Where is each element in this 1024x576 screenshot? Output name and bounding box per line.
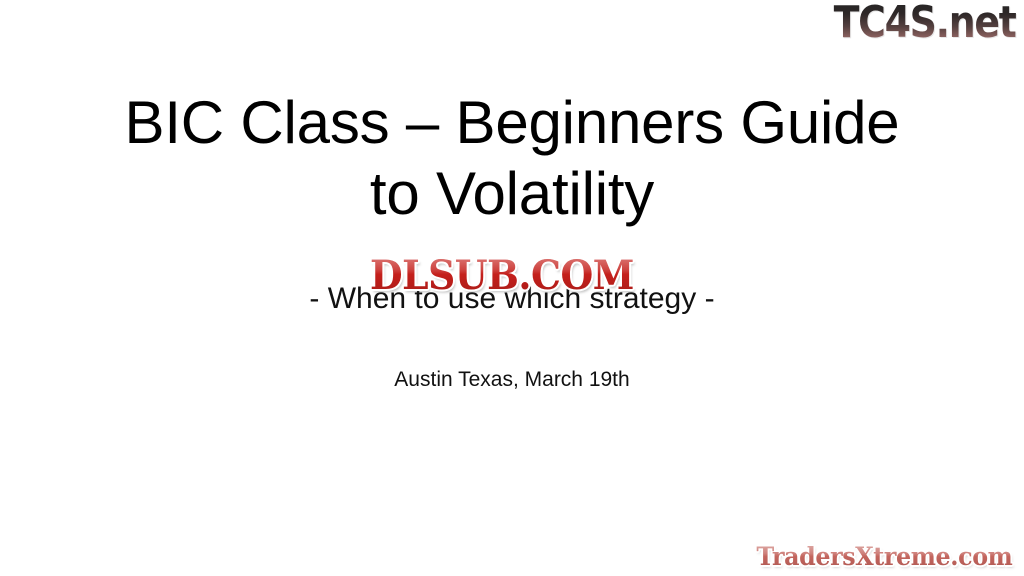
dlsub-watermark: DLSUB.COM: [370, 256, 634, 296]
slide-venue-date: Austin Texas, March 19th: [0, 369, 1024, 390]
tradersxtreme-watermark: TradersXtreme.com: [756, 544, 1012, 569]
tc4s-logo: TC4S.net: [834, 1, 1016, 45]
slide-title: BIC Class – Beginners Guide to Volatilit…: [0, 88, 1024, 230]
slide-title-line-1: BIC Class – Beginners Guide: [0, 88, 1024, 159]
presentation-slide: TC4S.net TC4S.net BIC Class – Beginners …: [0, 0, 1024, 576]
slide-title-line-2: to Volatility: [0, 159, 1024, 230]
